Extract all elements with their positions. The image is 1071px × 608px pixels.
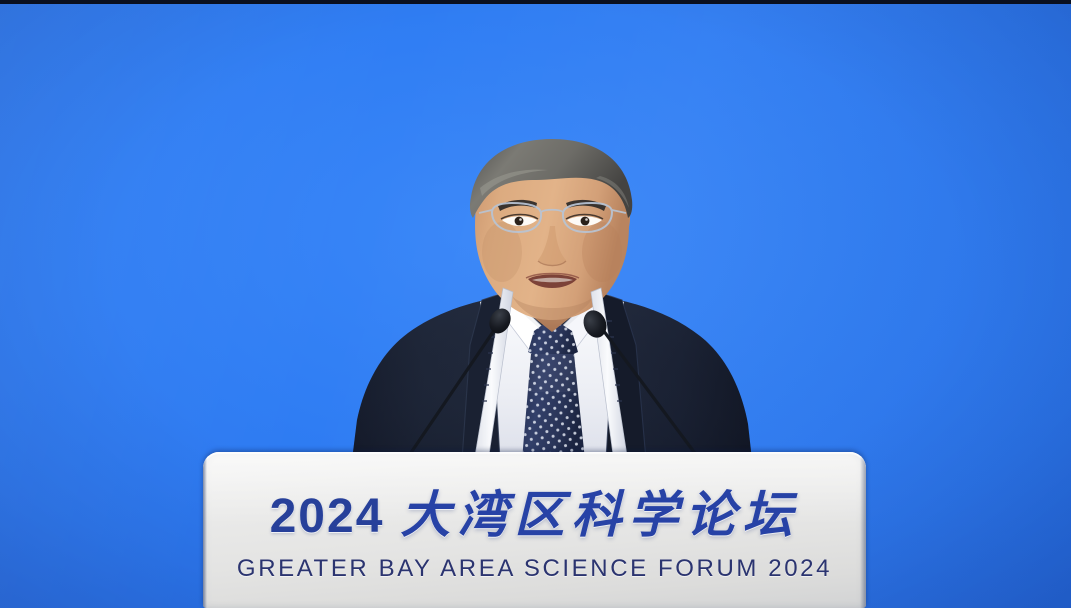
podium-panel: 2024 大湾区科学论坛 GREATER BAY AREA SCIENCE FO… (203, 452, 866, 608)
letterbox-top-bar (0, 0, 1071, 4)
podium-year: 2024 (270, 493, 385, 541)
podium-signage: 2024 大湾区科学论坛 GREATER BAY AREA SCIENCE FO… (203, 490, 866, 583)
screenshot-stage: 2024 大湾区科学论坛 GREATER BAY AREA SCIENCE FO… (0, 0, 1071, 608)
podium-subtitle: GREATER BAY AREA SCIENCE FORUM 2024 (203, 555, 866, 583)
podium-chinese-title: 大湾区科学论坛 (400, 490, 799, 540)
podium-headline: 2024 大湾区科学论坛 (203, 490, 866, 541)
